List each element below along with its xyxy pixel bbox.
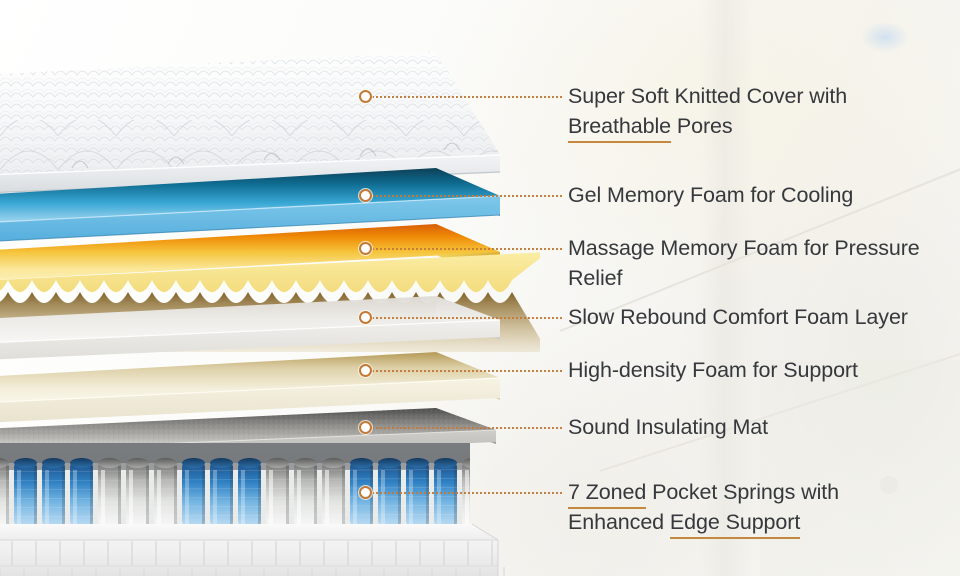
callout-label-cover-line-2-rest: Pores — [671, 114, 733, 138]
callout-label-sound-insulating-mat-line-1: Sound Insulating Mat — [568, 412, 768, 442]
callout-label-cover-line-2: Breathable Pores — [568, 111, 847, 141]
callout-label-high-density-foam: High-density Foam for Support — [568, 355, 858, 385]
callout-label-slow-rebound-foam-line-1: Slow Rebound Comfort Foam Layer — [568, 302, 908, 332]
leader-line-massage-memory-foam — [372, 248, 562, 250]
callout-label-cover: Super Soft Knitted Cover with Breathable… — [568, 81, 847, 141]
callout-label-gel-memory-foam-line-1: Gel Memory Foam for Cooling — [568, 180, 853, 210]
callout-label-pocket-springs-line-2-pre: Enhanced — [568, 510, 670, 534]
callout-label-massage-memory-foam-line-2: Relief — [568, 263, 920, 293]
background-panel — [760, 360, 960, 576]
highlight-breathable: Breathable — [568, 114, 671, 143]
callout-label-cover-line-1: Super Soft Knitted Cover with — [568, 81, 847, 111]
callout-marker-cover[interactable] — [359, 90, 372, 103]
callout-label-pocket-springs-line-1-rest: Pocket Springs with — [646, 480, 839, 504]
layer-quilted-base — [0, 524, 504, 576]
callout-marker-massage-memory-foam[interactable] — [359, 242, 372, 255]
leader-line-gel-memory-foam — [372, 195, 562, 197]
callout-marker-gel-memory-foam[interactable] — [359, 189, 372, 202]
callout-label-sound-insulating-mat: Sound Insulating Mat — [568, 412, 768, 442]
background-blue-accent — [862, 22, 908, 52]
leader-line-sound-insulating-mat — [372, 427, 562, 429]
leader-line-cover — [372, 96, 562, 98]
callout-label-massage-memory-foam-line-1: Massage Memory Foam for Pressure — [568, 233, 920, 263]
leader-line-pocket-springs — [372, 492, 562, 494]
callout-label-high-density-foam-line-1: High-density Foam for Support — [568, 355, 858, 385]
callout-marker-pocket-springs[interactable] — [359, 486, 372, 499]
leader-line-high-density-foam — [372, 370, 562, 372]
infographic-canvas: Super Soft Knitted Cover with Breathable… — [0, 0, 960, 576]
callout-marker-sound-insulating-mat[interactable] — [359, 421, 372, 434]
callout-label-gel-memory-foam: Gel Memory Foam for Cooling — [568, 180, 853, 210]
callout-label-pocket-springs-line-1: 7 Zoned Pocket Springs with — [568, 477, 839, 507]
callout-label-pocket-springs-line-2: Enhanced Edge Support — [568, 507, 839, 537]
leader-line-slow-rebound-foam — [372, 317, 562, 319]
callout-label-massage-memory-foam: Massage Memory Foam for Pressure Relief — [568, 233, 920, 293]
callout-label-pocket-springs: 7 Zoned Pocket Springs with Enhanced Edg… — [568, 477, 839, 537]
highlight-edge-support: Edge Support — [670, 510, 800, 539]
highlight-7-zoned: 7 Zoned — [568, 480, 646, 509]
mattress-illustration — [0, 0, 540, 576]
callout-label-slow-rebound-foam: Slow Rebound Comfort Foam Layer — [568, 302, 908, 332]
callout-marker-high-density-foam[interactable] — [359, 364, 372, 377]
callout-marker-slow-rebound-foam[interactable] — [359, 311, 372, 324]
